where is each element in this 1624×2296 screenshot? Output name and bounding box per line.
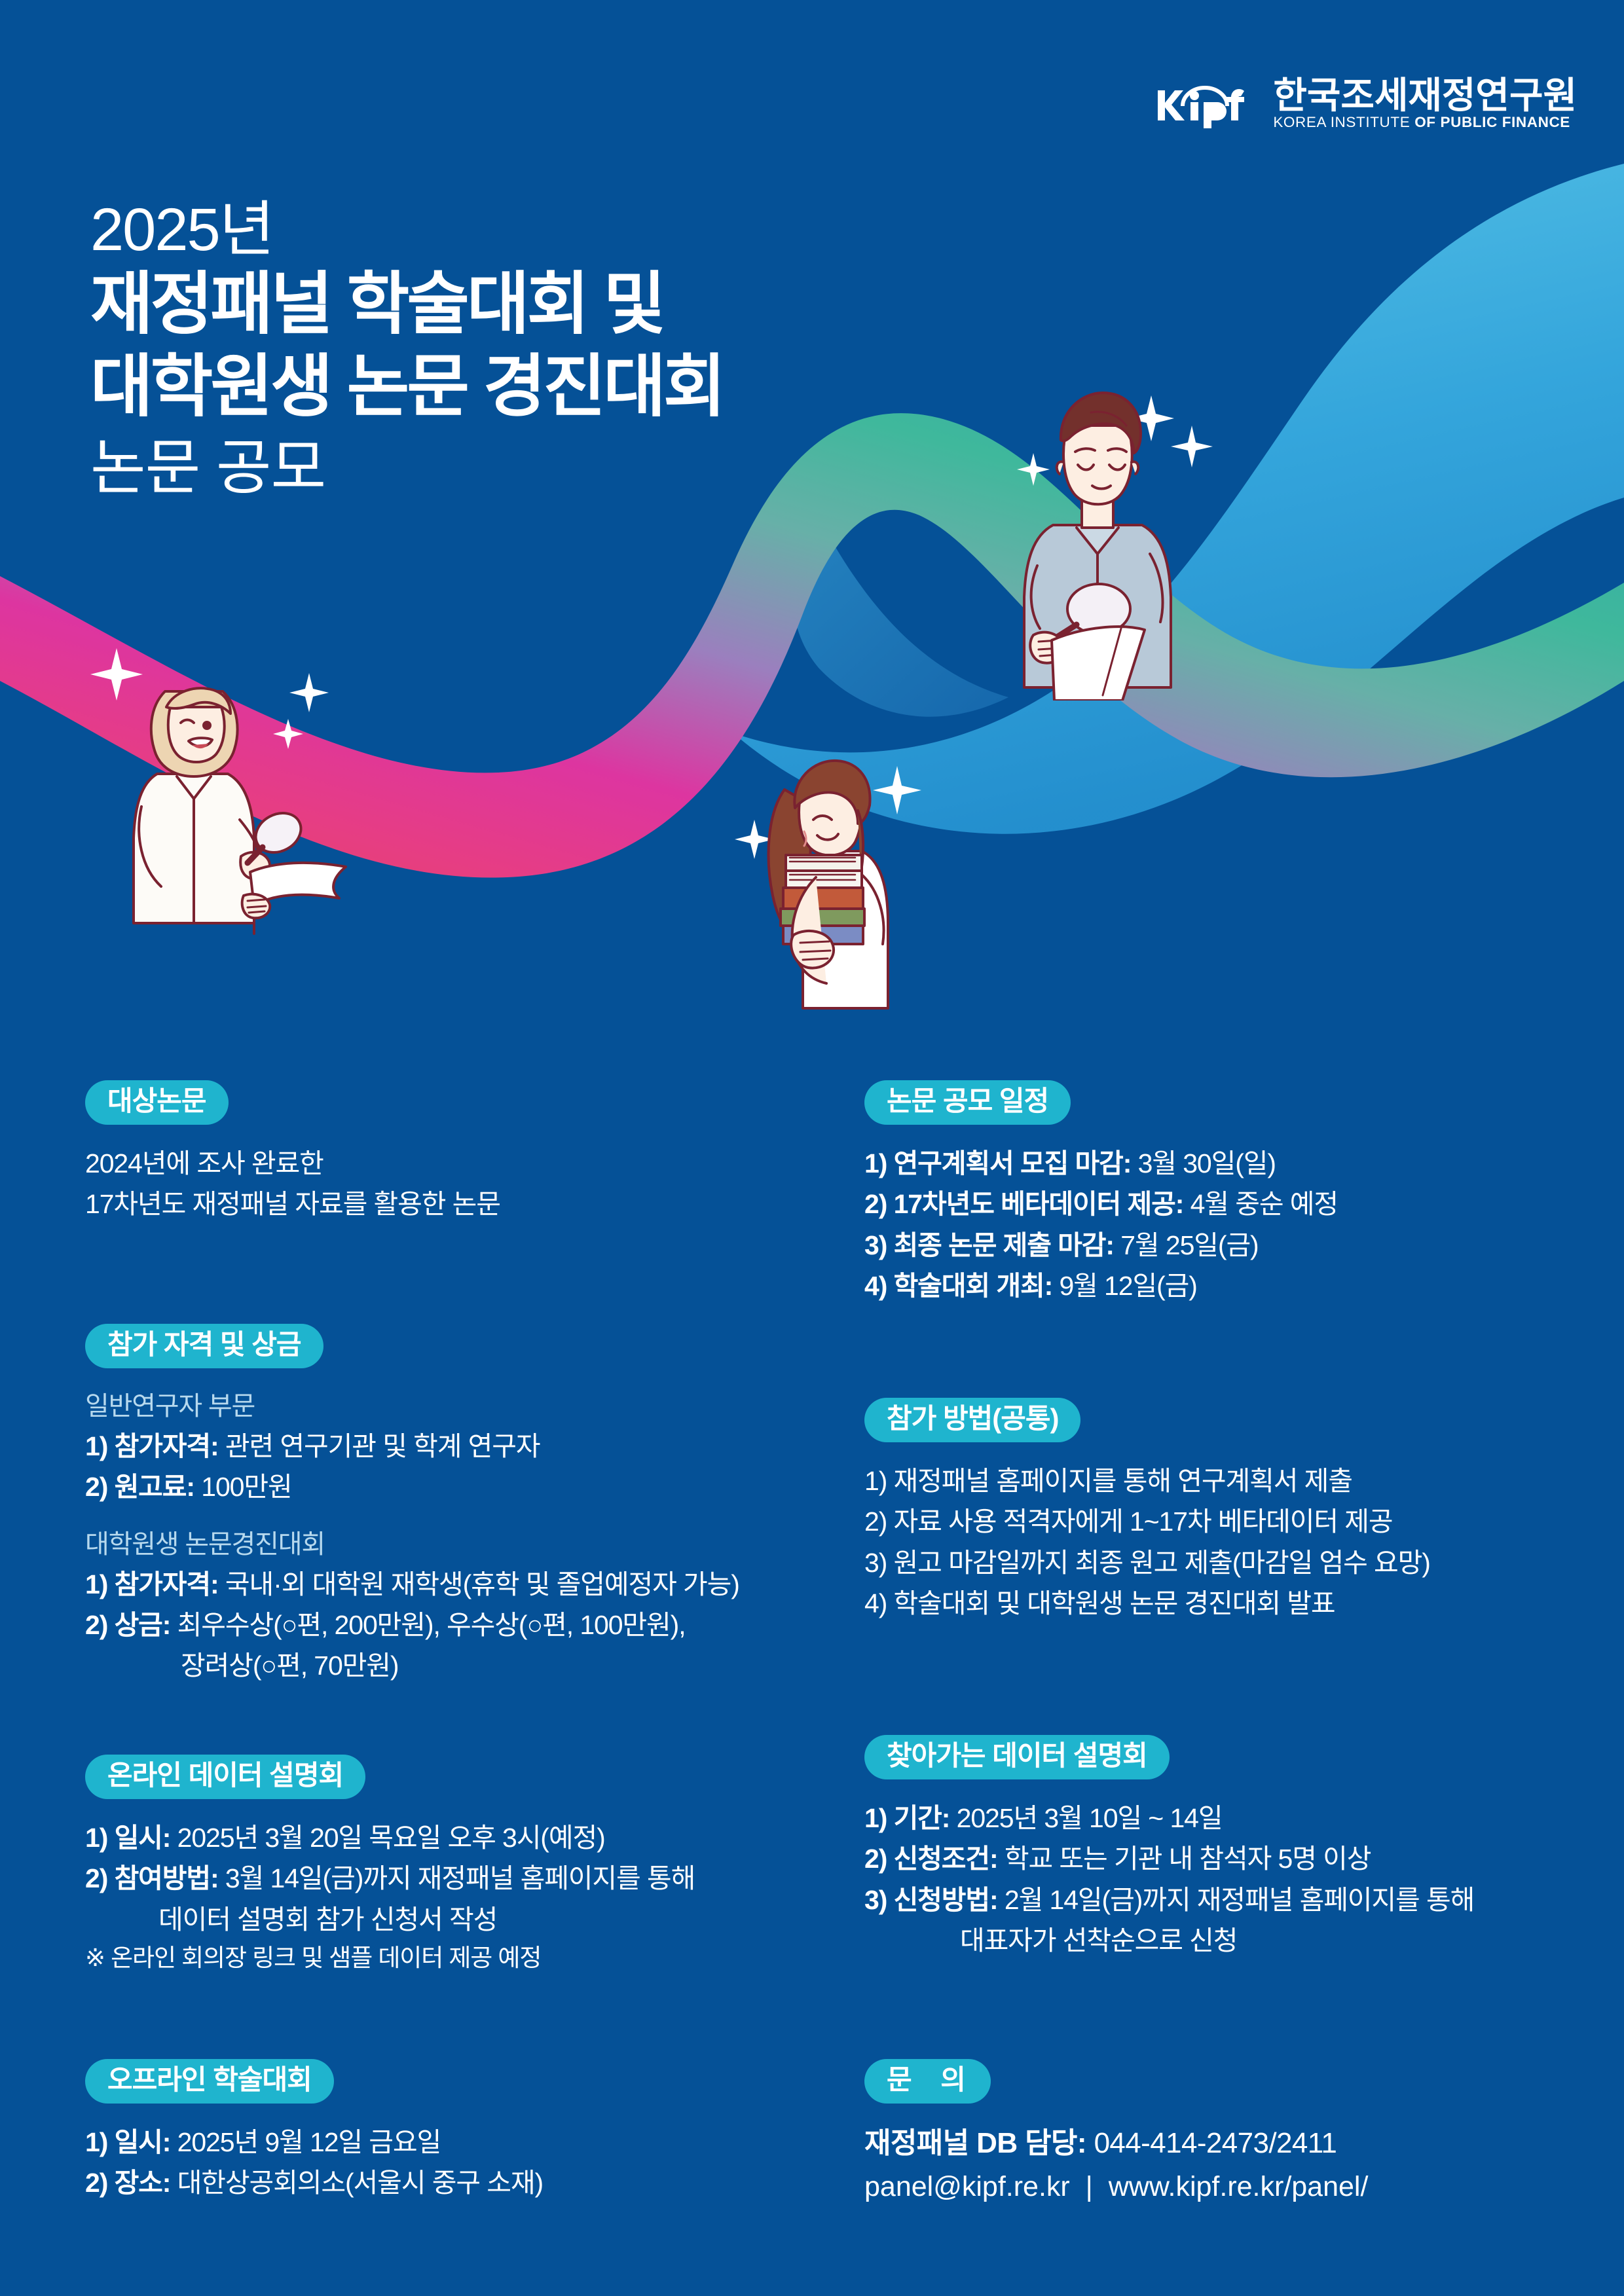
- poster-root: 한국조세재정연구원 KOREA INSTITUTE OF PUBLIC FINA…: [0, 0, 1624, 2296]
- visiting-briefing-item-3-value: 2월 14일(금)까지 재정패널 홈페이지를 통해: [1005, 1885, 1474, 1915]
- how-to-join-item-4: 4) 학술대회 및 대학원생 논문 경진대회 발표: [864, 1583, 1430, 1624]
- target-paper-line-2: 17차년도 재정패널 자료를 활용한 논문: [85, 1184, 500, 1224]
- visiting-briefing-item-1-label: 기간:: [894, 1803, 950, 1833]
- schedule-item-4-label: 학술대회 개최:: [894, 1271, 1053, 1301]
- eligibility-group1-heading: 일반연구자 부문: [85, 1387, 739, 1426]
- section-how-to-join: 참가 방법(공통) 1) 재정패널 홈페이지를 통해 연구계획서 제출 2) 자…: [864, 1398, 1430, 1624]
- online-briefing-item-2-num: 2): [85, 1863, 107, 1893]
- offline-conference-item-2: 2) 장소: 대한상공회의소(서울시 중구 소재): [85, 2162, 543, 2203]
- schedule-item-3-num: 3): [864, 1230, 887, 1260]
- schedule-item-3-label: 최종 논문 제출 마감:: [894, 1230, 1114, 1260]
- offline-conference-item-2-num: 2): [85, 2168, 107, 2198]
- badge-schedule: 논문 공모 일정: [864, 1080, 1071, 1125]
- how-to-join-body: 1) 재정패널 홈페이지를 통해 연구계획서 제출 2) 자료 사용 적격자에게…: [864, 1461, 1430, 1624]
- visiting-briefing-item-2-label: 신청조건:: [894, 1844, 998, 1874]
- badge-visiting-briefing: 찾아가는 데이터 설명회: [864, 1735, 1170, 1779]
- eligibility-g2-item-2-num: 2): [85, 1610, 107, 1640]
- schedule-item-2-label: 17차년도 베타데이터 제공:: [894, 1189, 1184, 1219]
- eligibility-g1-item-1-value: 관련 연구기관 및 학계 연구자: [225, 1431, 540, 1461]
- visiting-briefing-item-3: 3) 신청방법: 2월 14일(금)까지 재정패널 홈페이지를 통해: [864, 1880, 1474, 1920]
- visiting-briefing-item-3-continued: 대표자가 선착순으로 신청: [864, 1920, 1474, 1961]
- badge-eligibility: 참가 자격 및 상금: [85, 1324, 323, 1368]
- visiting-briefing-item-2: 2) 신청조건: 학교 또는 기관 내 참석자 5명 이상: [864, 1838, 1474, 1879]
- target-paper-body: 2024년에 조사 완료한 17차년도 재정패널 자료를 활용한 논문: [85, 1143, 500, 1225]
- eligibility-g2-item-1-label: 참가자격:: [115, 1569, 219, 1599]
- contact-body: 재정패널 DB 담당: 044-414-2473/2411 panel@kipf…: [864, 2122, 1368, 2208]
- contact-separator: |: [1086, 2171, 1093, 2202]
- contact-phone: 재정패널 DB 담당: 044-414-2473/2411: [864, 2122, 1368, 2166]
- schedule-item-1: 1) 연구계획서 모집 마감: 3월 30일(일): [864, 1143, 1338, 1184]
- schedule-item-4-value: 9월 12일(금): [1059, 1271, 1196, 1301]
- visiting-briefing-item-3-num: 3): [864, 1885, 887, 1915]
- online-briefing-item-2-continued: 데이터 설명회 참가 신청서 작성: [85, 1899, 695, 1940]
- offline-conference-item-1: 1) 일시: 2025년 9월 12일 금요일: [85, 2122, 543, 2162]
- section-contact: 문 의 재정패널 DB 담당: 044-414-2473/2411 panel@…: [864, 2059, 1368, 2208]
- eligibility-g1-item-2-label: 원고료:: [115, 1472, 194, 1502]
- eligibility-g2-item-1-value: 국내·외 대학원 재학생(휴학 및 졸업예정자 가능): [225, 1569, 739, 1599]
- contact-links: panel@kipf.re.kr | www.kipf.re.kr/panel/: [864, 2166, 1368, 2208]
- schedule-item-4: 4) 학술대회 개최: 9월 12일(금): [864, 1266, 1338, 1306]
- offline-conference-item-2-label: 장소:: [115, 2168, 171, 2198]
- schedule-item-2: 2) 17차년도 베타데이터 제공: 4월 중순 예정: [864, 1184, 1338, 1224]
- visiting-briefing-item-2-value: 학교 또는 기관 내 참석자 5명 이상: [1005, 1844, 1371, 1874]
- eligibility-g2-item-1: 1) 참가자격: 국내·외 대학원 재학생(휴학 및 졸업예정자 가능): [85, 1564, 739, 1605]
- visiting-briefing-item-1: 1) 기간: 2025년 3월 10일 ~ 14일: [864, 1798, 1474, 1838]
- badge-contact: 문 의: [864, 2059, 991, 2104]
- schedule-body: 1) 연구계획서 모집 마감: 3월 30일(일) 2) 17차년도 베타데이터…: [864, 1143, 1338, 1306]
- visiting-briefing-item-1-num: 1): [864, 1803, 887, 1833]
- eligibility-g2-item-2-continued: 장려상(○편, 70만원): [85, 1645, 739, 1686]
- eligibility-gap: [85, 1508, 739, 1525]
- online-briefing-item-2-value: 3월 14일(금)까지 재정패널 홈페이지를 통해: [225, 1863, 695, 1893]
- section-schedule: 논문 공모 일정 1) 연구계획서 모집 마감: 3월 30일(일) 2) 17…: [864, 1080, 1338, 1306]
- eligibility-g1-item-2-num: 2): [85, 1472, 107, 1502]
- eligibility-g1-item-2-value: 100만원: [201, 1472, 291, 1502]
- eligibility-g2-item-1-num: 1): [85, 1569, 107, 1599]
- eligibility-g1-item-1: 1) 참가자격: 관련 연구기관 및 학계 연구자: [85, 1426, 739, 1467]
- badge-target-paper: 대상논문: [85, 1080, 229, 1125]
- badge-how-to-join: 참가 방법(공통): [864, 1398, 1080, 1442]
- visiting-briefing-body: 1) 기간: 2025년 3월 10일 ~ 14일 2) 신청조건: 학교 또는…: [864, 1798, 1474, 1961]
- online-briefing-item-1-label: 일시:: [115, 1823, 171, 1853]
- section-target-paper: 대상논문 2024년에 조사 완료한 17차년도 재정패널 자료를 활용한 논문: [85, 1080, 500, 1225]
- online-briefing-note: ※ 온라인 회의장 링크 및 샘플 데이터 제공 예정: [85, 1940, 695, 1977]
- online-briefing-item-1-value: 2025년 3월 20일 목요일 오후 3시(예정): [177, 1823, 605, 1853]
- section-offline-conference: 오프라인 학술대회 1) 일시: 2025년 9월 12일 금요일 2) 장소:…: [85, 2059, 543, 2204]
- how-to-join-item-3: 3) 원고 마감일까지 최종 원고 제출(마감일 엄수 요망): [864, 1542, 1430, 1583]
- schedule-item-3-value: 7월 25일(금): [1120, 1230, 1258, 1260]
- schedule-item-3: 3) 최종 논문 제출 마감: 7월 25일(금): [864, 1225, 1338, 1266]
- eligibility-g2-item-2-label: 상금:: [115, 1610, 171, 1640]
- badge-offline-conference: 오프라인 학술대회: [85, 2059, 334, 2104]
- schedule-item-1-label: 연구계획서 모집 마감:: [894, 1148, 1132, 1178]
- visiting-briefing-item-2-num: 2): [864, 1844, 887, 1874]
- online-briefing-item-1: 1) 일시: 2025년 3월 20일 목요일 오후 3시(예정): [85, 1817, 695, 1858]
- offline-conference-body: 1) 일시: 2025년 9월 12일 금요일 2) 장소: 대한상공회의소(서…: [85, 2122, 543, 2204]
- how-to-join-item-1: 1) 재정패널 홈페이지를 통해 연구계획서 제출: [864, 1461, 1430, 1501]
- section-online-briefing: 온라인 데이터 설명회 1) 일시: 2025년 3월 20일 목요일 오후 3…: [85, 1755, 695, 1977]
- offline-conference-item-1-num: 1): [85, 2127, 107, 2157]
- schedule-item-1-num: 1): [864, 1148, 887, 1178]
- content-area: 대상논문 2024년에 조사 완료한 17차년도 재정패널 자료를 활용한 논문…: [0, 0, 1624, 2296]
- target-paper-line-1: 2024년에 조사 완료한: [85, 1143, 500, 1184]
- contact-website[interactable]: www.kipf.re.kr/panel/: [1109, 2171, 1369, 2202]
- how-to-join-item-2: 2) 자료 사용 적격자에게 1~17차 베타데이터 제공: [864, 1501, 1430, 1542]
- schedule-item-2-value: 4월 중순 예정: [1190, 1189, 1338, 1219]
- eligibility-group2-heading: 대학원생 논문경진대회: [85, 1525, 739, 1564]
- badge-online-briefing: 온라인 데이터 설명회: [85, 1755, 365, 1799]
- contact-phone-label: 재정패널 DB 담당:: [864, 2127, 1086, 2159]
- eligibility-g1-item-2: 2) 원고료: 100만원: [85, 1467, 739, 1507]
- eligibility-g2-item-2: 2) 상금: 최우수상(○편, 200만원), 우수상(○편, 100만원),: [85, 1605, 739, 1645]
- visiting-briefing-item-1-value: 2025년 3월 10일 ~ 14일: [957, 1803, 1223, 1833]
- online-briefing-body: 1) 일시: 2025년 3월 20일 목요일 오후 3시(예정) 2) 참여방…: [85, 1817, 695, 1977]
- online-briefing-item-1-num: 1): [85, 1823, 107, 1853]
- contact-phone-value[interactable]: 044-414-2473/2411: [1094, 2127, 1337, 2159]
- section-eligibility: 참가 자격 및 상금 일반연구자 부문 1) 참가자격: 관련 연구기관 및 학…: [85, 1324, 739, 1686]
- online-briefing-item-2-label: 참여방법:: [115, 1863, 219, 1893]
- schedule-item-1-value: 3월 30일(일): [1138, 1148, 1276, 1178]
- schedule-item-4-num: 4): [864, 1271, 887, 1301]
- offline-conference-item-1-value: 2025년 9월 12일 금요일: [177, 2127, 441, 2157]
- offline-conference-item-2-value: 대한상공회의소(서울시 중구 소재): [177, 2168, 543, 2198]
- contact-email[interactable]: panel@kipf.re.kr: [864, 2171, 1070, 2202]
- section-visiting-briefing: 찾아가는 데이터 설명회 1) 기간: 2025년 3월 10일 ~ 14일 2…: [864, 1735, 1474, 1961]
- schedule-item-2-num: 2): [864, 1189, 887, 1219]
- eligibility-g1-item-1-label: 참가자격:: [115, 1431, 219, 1461]
- eligibility-g2-item-2-value: 최우수상(○편, 200만원), 우수상(○편, 100만원),: [177, 1610, 686, 1640]
- visiting-briefing-item-3-label: 신청방법:: [894, 1885, 998, 1915]
- eligibility-body: 일반연구자 부문 1) 참가자격: 관련 연구기관 및 학계 연구자 2) 원고…: [85, 1387, 739, 1686]
- online-briefing-item-2: 2) 참여방법: 3월 14일(금)까지 재정패널 홈페이지를 통해: [85, 1858, 695, 1899]
- offline-conference-item-1-label: 일시:: [115, 2127, 171, 2157]
- eligibility-g1-item-1-num: 1): [85, 1431, 107, 1461]
